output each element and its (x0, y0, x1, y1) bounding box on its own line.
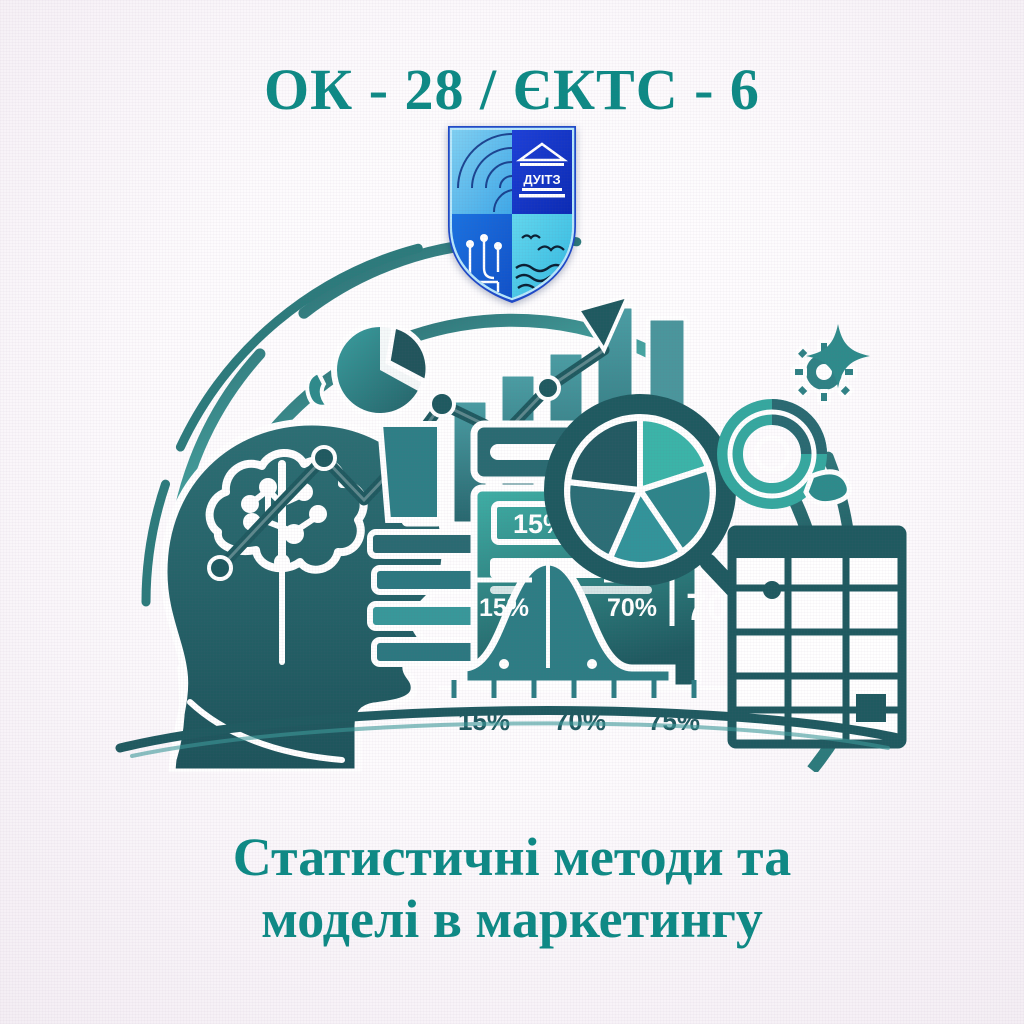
table-cell-marker (763, 581, 781, 599)
donut-callout-shape (806, 472, 849, 504)
shield-quadrant-circuit (452, 214, 512, 304)
page-headline: ОК - 28 / ЄКТС - 6 (0, 56, 1024, 123)
stat-mid-label: 70% (607, 594, 657, 622)
table-selected-cell (856, 694, 886, 722)
marketing-analytics-illustration: 15% 15% 70% 70% (112, 232, 912, 772)
shield-abbreviation: ДУІТЗ (523, 172, 560, 187)
magnifier-pie-slices (567, 418, 712, 565)
duitz-shield-emblem: ДУІТЗ (446, 122, 578, 304)
page-title: Статистичні методи та моделі в маркетинг… (0, 826, 1024, 950)
poster-canvas: ОК - 28 / ЄКТС - 6 (0, 0, 1024, 1024)
stat-left-label: 15% (479, 594, 529, 622)
shield-svg: ДУІТЗ (446, 122, 578, 304)
page-title-line-2: моделі в маркетингу (0, 888, 1024, 950)
shield-quadrant-birds-waves (512, 214, 572, 304)
spreadsheet-table (732, 530, 902, 744)
pie-chart-exploded (334, 324, 428, 416)
page-title-line-1: Статистичні методи та (0, 826, 1024, 888)
